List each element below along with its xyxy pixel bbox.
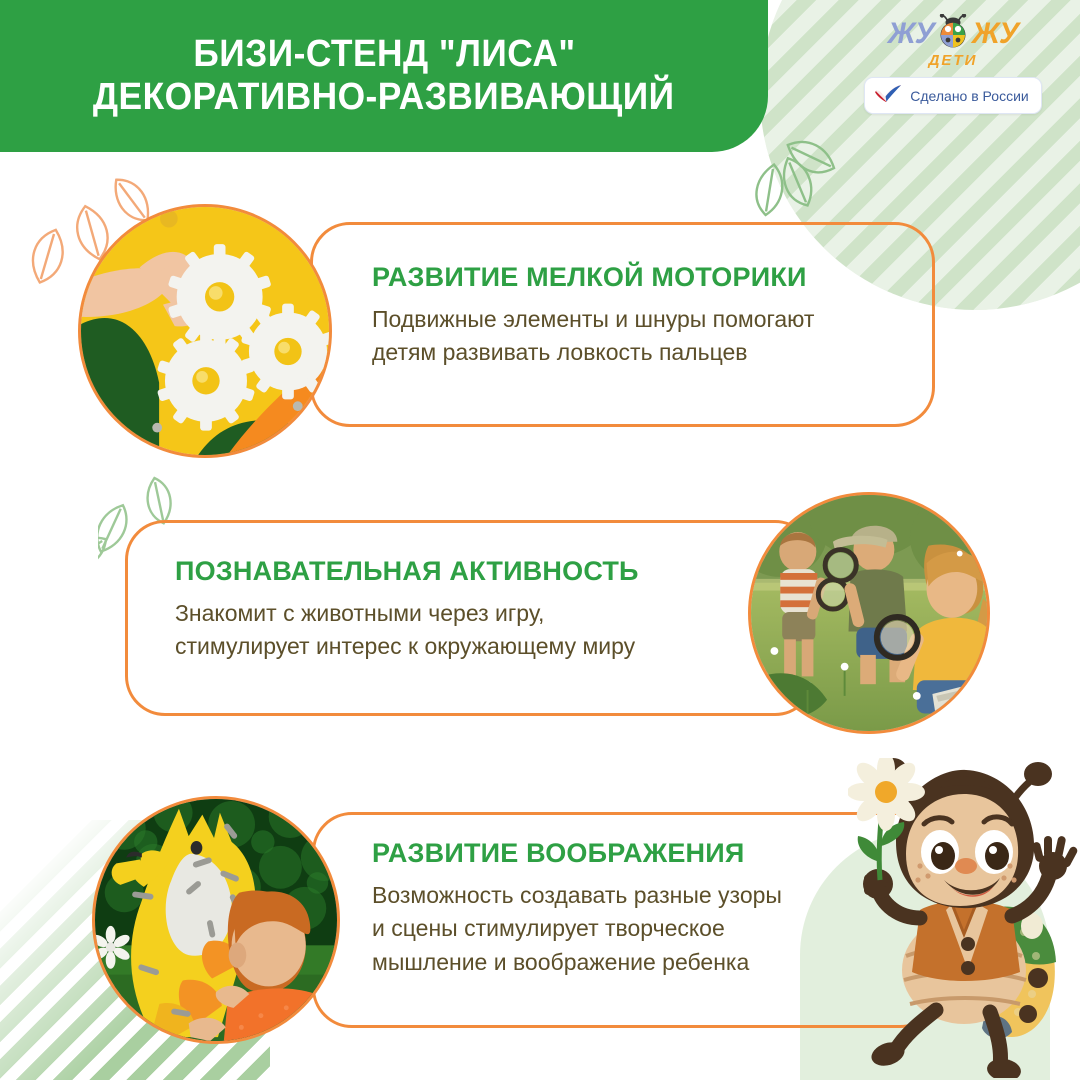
made-in-russia-badge: Сделано в России — [864, 77, 1041, 114]
feature-card-1-line1: Подвижные элементы и шнуры помогают — [372, 303, 912, 336]
feature-card-3-body: РАЗВИТИЕ ВООБРАЖЕНИЯ Возможность создава… — [372, 838, 892, 979]
poster-canvas: БИЗИ-СТЕНД "ЛИСА" ДЕКОРАТИВНО-РАЗВИВАЮЩИ… — [0, 0, 1080, 1080]
feature-card-1-line2: детям развивать ловкость пальцев — [372, 336, 912, 369]
feature-card-1-title: РАЗВИТИЕ МЕЛКОЙ МОТОРИКИ — [372, 262, 912, 293]
ladybug-icon — [936, 14, 970, 55]
russia-flag-check-icon — [873, 83, 903, 108]
ladybug-mascot-with-daisy — [848, 758, 1078, 1078]
logo-word-start: ЖУ — [888, 17, 934, 51]
logo-word-end: ЖУ — [972, 17, 1018, 51]
feature-card-2-line2: стимулирует интерес к окружающему миру — [175, 630, 735, 663]
feature-photo-3 — [92, 796, 340, 1044]
logo-mark: ЖУ — [888, 12, 1018, 56]
brand-logo[interactable]: ЖУ — [848, 12, 1058, 114]
feature-photo-1 — [78, 204, 332, 458]
page-title-line2: ДЕКОРАТИВНО-РАЗВИВАЮЩИЙ — [93, 76, 675, 119]
feature-card-3-line3: мышление и воображение ребенка — [372, 946, 892, 979]
page-title-line1: БИЗИ-СТЕНД "ЛИСА" — [193, 33, 575, 76]
feature-card-2-body: ПОЗНАВАТЕЛЬНАЯ АКТИВНОСТЬ Знакомит с жив… — [175, 556, 735, 664]
feature-card-2-line1: Знакомит с животными через игру, — [175, 597, 735, 630]
feature-card-3-line2: и сцены стимулирует творческое — [372, 912, 892, 945]
feature-card-3-title: РАЗВИТИЕ ВООБРАЖЕНИЯ — [372, 838, 892, 869]
feature-card-1-body: РАЗВИТИЕ МЕЛКОЙ МОТОРИКИ Подвижные элеме… — [372, 262, 912, 370]
logo-subtitle: ДЕТИ — [929, 52, 978, 69]
feature-photo-2 — [748, 492, 990, 734]
feature-card-3-line1: Возможность создавать разные узоры — [372, 879, 892, 912]
feature-card-2-title: ПОЗНАВАТЕЛЬНАЯ АКТИВНОСТЬ — [175, 556, 735, 587]
made-in-russia-label: Сделано в России — [910, 88, 1028, 104]
poster-header: БИЗИ-СТЕНД "ЛИСА" ДЕКОРАТИВНО-РАЗВИВАЮЩИ… — [0, 0, 768, 152]
